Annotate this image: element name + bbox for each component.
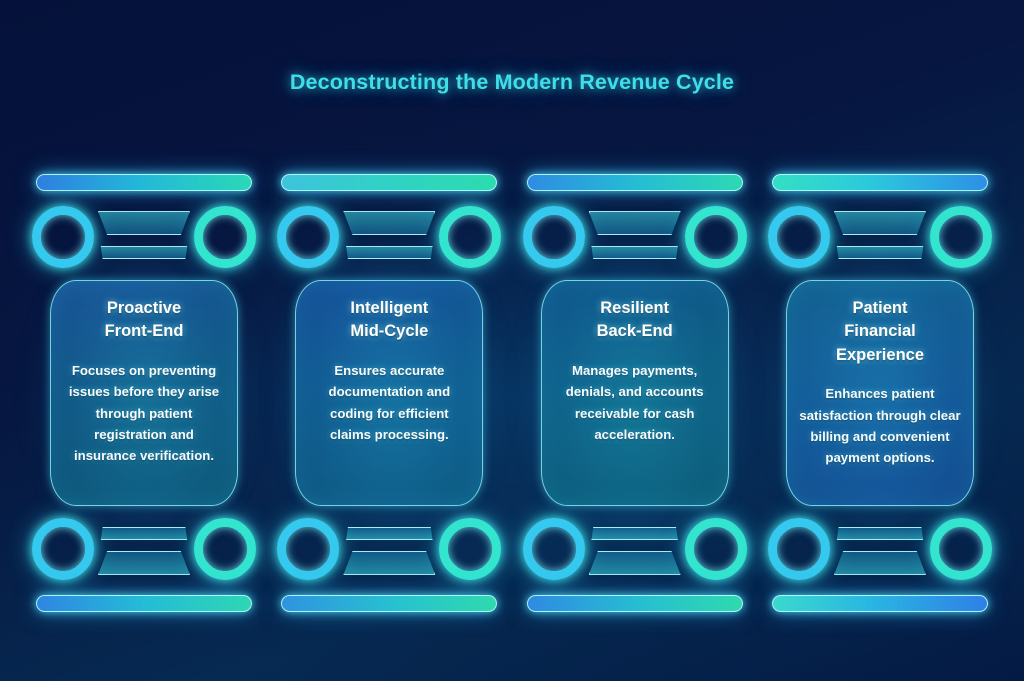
bottom-bar-decoration — [772, 595, 988, 612]
ring-icon — [523, 206, 585, 268]
slab-icon — [834, 527, 926, 540]
top-decoration-cluster — [521, 198, 749, 276]
top-decoration-cluster — [766, 198, 994, 276]
card-patient-financial-experience[interactable]: Patient Financial Experience Enhances pa… — [766, 168, 994, 618]
top-bar-decoration — [281, 174, 497, 191]
card-heading-line: Intelligent — [350, 299, 428, 317]
card-heading-line: Financial — [844, 322, 916, 340]
card-panel: Resilient Back-End Manages payments, den… — [541, 280, 729, 506]
slab-icon — [834, 246, 926, 259]
ring-icon — [685, 518, 747, 580]
trapezoid-icon — [98, 551, 190, 575]
card-body: Ensures accurate documentation and codin… — [308, 360, 470, 446]
bottom-decoration-cluster — [766, 510, 994, 588]
slab-icon — [589, 246, 681, 259]
ring-icon — [439, 518, 501, 580]
slab-icon — [343, 246, 435, 259]
slab-icon — [343, 527, 435, 540]
card-heading-line: Back-End — [597, 322, 673, 340]
ring-icon — [685, 206, 747, 268]
ring-icon — [768, 206, 830, 268]
trapezoid-icon — [589, 551, 681, 575]
card-panel: Proactive Front-End Focuses on preventin… — [50, 280, 238, 506]
trapezoid-icon — [343, 551, 435, 575]
page-title: Deconstructing the Modern Revenue Cycle — [0, 70, 1024, 95]
top-bar-decoration — [36, 174, 252, 191]
card-heading: Proactive Front-End — [63, 297, 225, 344]
slab-icon — [98, 527, 190, 540]
ring-icon — [32, 518, 94, 580]
card-heading: Patient Financial Experience — [799, 297, 961, 367]
bottom-decoration-cluster — [30, 510, 258, 588]
ring-icon — [768, 518, 830, 580]
card-proactive-front-end[interactable]: Proactive Front-End Focuses on preventin… — [30, 168, 258, 618]
ring-icon — [194, 518, 256, 580]
bar-group-icon — [589, 211, 681, 263]
bar-group-icon — [98, 211, 190, 263]
trapezoid-icon — [589, 211, 681, 235]
ring-icon — [523, 518, 585, 580]
slab-icon — [98, 246, 190, 259]
bar-group-icon — [343, 211, 435, 263]
trapezoid-icon — [343, 211, 435, 235]
card-panel: Intelligent Mid-Cycle Ensures accurate d… — [295, 280, 483, 506]
bottom-bar-decoration — [36, 595, 252, 612]
ring-icon — [930, 518, 992, 580]
top-bar-decoration — [527, 174, 743, 191]
ring-icon — [277, 518, 339, 580]
trapezoid-icon — [834, 551, 926, 575]
ring-icon — [32, 206, 94, 268]
bottom-bar-decoration — [527, 595, 743, 612]
slab-icon — [589, 527, 681, 540]
bar-group-icon — [834, 211, 926, 263]
card-heading: Intelligent Mid-Cycle — [308, 297, 470, 344]
card-body: Manages payments, denials, and accounts … — [554, 360, 716, 446]
card-heading-line: Front-End — [105, 322, 184, 340]
top-bar-decoration — [772, 174, 988, 191]
bottom-bar-decoration — [281, 595, 497, 612]
card-panel: Patient Financial Experience Enhances pa… — [786, 280, 974, 506]
bottom-decoration-cluster — [275, 510, 503, 588]
card-intelligent-mid-cycle[interactable]: Intelligent Mid-Cycle Ensures accurate d… — [275, 168, 503, 618]
top-decoration-cluster — [30, 198, 258, 276]
card-row: Proactive Front-End Focuses on preventin… — [30, 168, 994, 618]
card-body: Enhances patient satisfaction through cl… — [799, 383, 961, 469]
card-heading-line: Experience — [836, 346, 924, 364]
card-resilient-back-end[interactable]: Resilient Back-End Manages payments, den… — [521, 168, 749, 618]
bar-group-icon — [343, 523, 435, 575]
bar-group-icon — [98, 523, 190, 575]
card-heading-line: Proactive — [107, 299, 181, 317]
infographic-canvas: Deconstructing the Modern Revenue Cycle … — [0, 0, 1024, 681]
card-heading-line: Patient — [852, 299, 907, 317]
ring-icon — [277, 206, 339, 268]
bottom-decoration-cluster — [521, 510, 749, 588]
card-heading-line: Mid-Cycle — [350, 322, 428, 340]
top-decoration-cluster — [275, 198, 503, 276]
ring-icon — [194, 206, 256, 268]
card-heading-line: Resilient — [600, 299, 669, 317]
trapezoid-icon — [834, 211, 926, 235]
ring-icon — [439, 206, 501, 268]
card-body: Focuses on preventing issues before they… — [63, 360, 225, 467]
trapezoid-icon — [98, 211, 190, 235]
ring-icon — [930, 206, 992, 268]
bar-group-icon — [589, 523, 681, 575]
card-heading: Resilient Back-End — [554, 297, 716, 344]
bar-group-icon — [834, 523, 926, 575]
